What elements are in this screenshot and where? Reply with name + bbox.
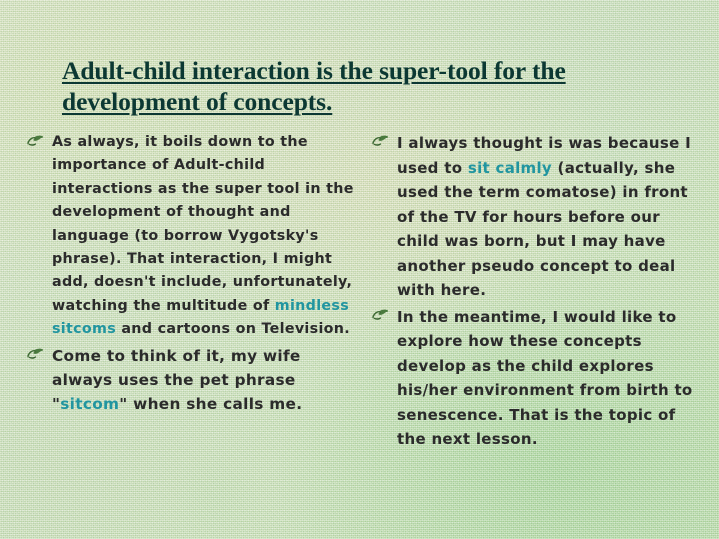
list-item-text: As always, it boils down to the importan… — [52, 131, 356, 342]
list-item-text: I always thought is was because I used t… — [397, 131, 701, 303]
list-item: Come to think of it, my wife always uses… — [26, 344, 356, 417]
list-item: In the meantime, I would like to explore… — [371, 305, 701, 452]
leaf-fleuron-bullet-icon — [371, 134, 397, 147]
segment-text: As always, it boils down to the importan… — [52, 134, 354, 314]
segment-text: and cartoons on Television. — [116, 321, 350, 337]
segment-text: " when she calls me. — [119, 395, 302, 413]
left-text-column: As always, it boils down to the importan… — [26, 131, 356, 418]
page-title: Adult-child interaction is the super-too… — [62, 55, 654, 117]
list-item-text: In the meantime, I would like to explore… — [397, 305, 701, 452]
slide-content: Adult-child interaction is the super-too… — [0, 0, 719, 539]
list-item-text: Come to think of it, my wife always uses… — [52, 344, 356, 417]
slide-title-block: Adult-child interaction is the super-too… — [62, 55, 654, 117]
accent-phrase: sit calmly — [468, 159, 552, 177]
leaf-fleuron-bullet-icon — [26, 347, 52, 360]
leaf-fleuron-bullet-icon — [371, 308, 397, 321]
accent-phrase: sitcom — [60, 395, 119, 413]
right-text-column: I always thought is was because I used t… — [371, 131, 701, 454]
list-item: As always, it boils down to the importan… — [26, 131, 356, 342]
segment-text: In the meantime, I would like to explore… — [397, 308, 693, 449]
segment-text: (actually, she used the term comatose) i… — [397, 159, 688, 300]
leaf-fleuron-bullet-icon — [26, 134, 52, 147]
presentation-slide: Adult-child interaction is the super-too… — [0, 0, 719, 539]
list-item: I always thought is was because I used t… — [371, 131, 701, 303]
